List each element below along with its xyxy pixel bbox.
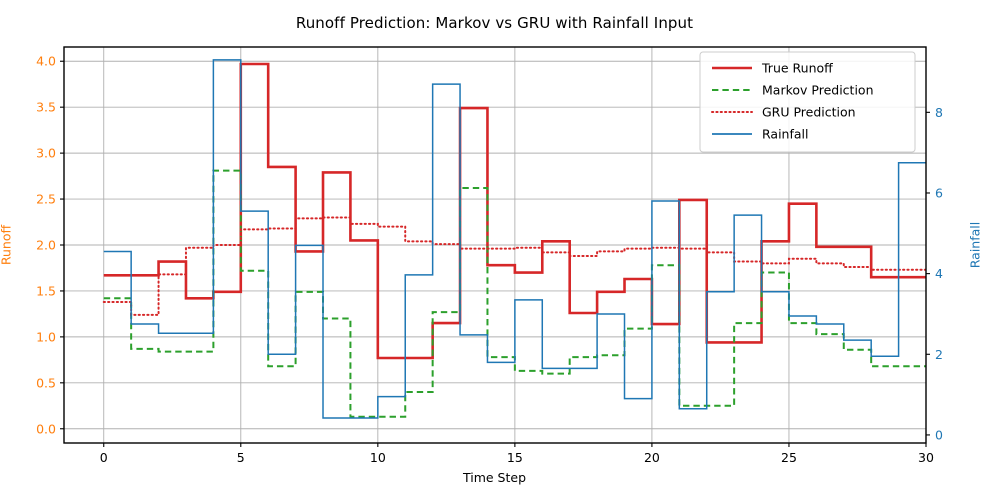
svg-text:25: 25	[781, 450, 797, 465]
svg-text:0: 0	[935, 427, 943, 442]
svg-text:6: 6	[935, 185, 943, 200]
legend-label-1: Markov Prediction	[762, 83, 874, 98]
svg-text:30: 30	[918, 450, 934, 465]
chart-legend: True RunoffMarkov PredictionGRU Predicti…	[700, 52, 915, 152]
legend-label-0: True Runoff	[761, 61, 833, 76]
svg-text:3.0: 3.0	[36, 146, 56, 161]
svg-text:2.0: 2.0	[36, 238, 56, 253]
svg-text:10: 10	[370, 450, 386, 465]
svg-text:20: 20	[644, 450, 660, 465]
svg-text:0.0: 0.0	[36, 421, 56, 436]
svg-text:1.0: 1.0	[36, 329, 56, 344]
svg-text:2: 2	[935, 347, 943, 362]
legend-label-3: Rainfall	[762, 127, 808, 142]
svg-text:0.5: 0.5	[36, 375, 56, 390]
svg-text:2.5: 2.5	[36, 192, 56, 207]
svg-text:0: 0	[100, 450, 108, 465]
svg-text:4: 4	[935, 266, 943, 281]
svg-text:4.0: 4.0	[36, 54, 56, 69]
chart-figure: Runoff Prediction: Markov vs GRU with Ra…	[0, 0, 989, 495]
svg-text:8: 8	[935, 105, 943, 120]
svg-text:3.5: 3.5	[36, 100, 56, 115]
svg-text:1.5: 1.5	[36, 283, 56, 298]
svg-text:5: 5	[237, 450, 245, 465]
legend-label-2: GRU Prediction	[762, 105, 856, 120]
plot-area: 0.00.51.01.52.02.53.03.54.00246805101520…	[0, 0, 989, 495]
svg-text:15: 15	[507, 450, 523, 465]
